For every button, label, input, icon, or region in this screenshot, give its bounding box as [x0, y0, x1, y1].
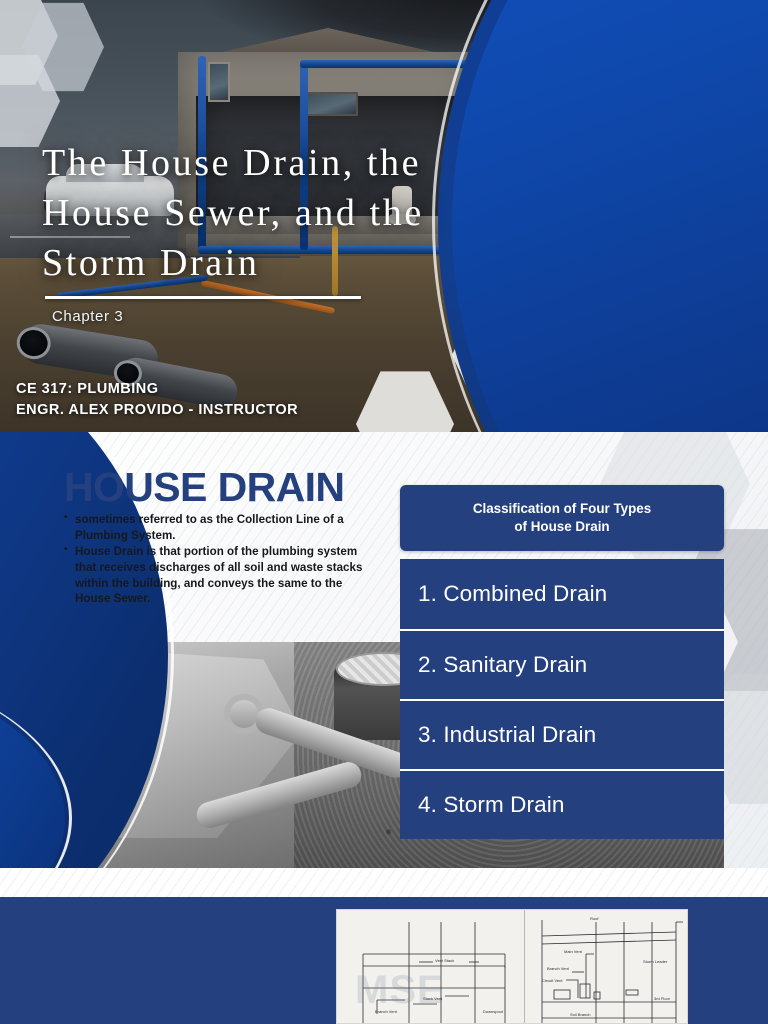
diagram-label-circuit-vent: Circuit Vent [542, 978, 562, 983]
list-item-combined-drain[interactable]: 1. Combined Drain [400, 559, 724, 629]
slide-plumbing-diagram: MSE Vent Stack Stack Vent Branch Vent Do… [0, 897, 768, 1024]
classification-header-line-2: of House Drain [514, 519, 609, 534]
diagram-right: Roof Main Vent Branch Vent Circuit Vent … [526, 910, 688, 1024]
slide-separator [0, 868, 768, 897]
diagram-label-soil-branch: Soil Branch [570, 1012, 590, 1017]
list-item-sanitary-drain[interactable]: 2. Sanitary Drain [400, 629, 724, 699]
page-title-line-1: The House Drain, the [42, 142, 421, 184]
diagram-label-branch-vent: Branch Vent [375, 1009, 397, 1014]
list-item: House Drain is that portion of the plumb… [64, 544, 364, 607]
diagram-label-stack-vent: Stack Vent [423, 996, 442, 1001]
diagram-left: MSE Vent Stack Stack Vent Branch Vent Do… [337, 910, 525, 1024]
course-label: CE 317: PLUMBING [16, 381, 159, 397]
classification-header: Classification of Four Types of House Dr… [400, 485, 724, 551]
page-title-line-3: Storm Drain [42, 242, 260, 284]
diagram-label-branch-vent: Branch Vent [547, 966, 569, 971]
list-item: sometimes referred to as the Collection … [64, 512, 364, 543]
diagram-label-downspout: Downspout [483, 1009, 503, 1014]
slide-deck-page: The House Drain, the House Sewer, and th… [0, 0, 768, 1024]
diagram-label-storm-leader: Storm Leader [643, 959, 667, 964]
diagram-watermark: MSE [355, 968, 445, 1013]
diagram-label-third-floor: 3rd Floor [654, 996, 670, 1001]
diagram-label-main-vent: Main Vent [564, 949, 582, 954]
title-divider [45, 296, 361, 299]
chapter-label: Chapter 3 [52, 308, 123, 325]
house-window-4 [300, 92, 358, 116]
plumbing-diagram-figure: MSE Vent Stack Stack Vent Branch Vent Do… [336, 909, 688, 1024]
classification-list: 1. Combined Drain 2. Sanitary Drain 3. I… [400, 559, 724, 839]
section-heading: HOUSE DRAIN [64, 464, 344, 511]
list-item-storm-drain[interactable]: 4. Storm Drain [400, 769, 724, 839]
house-window-1 [208, 62, 230, 102]
page-title-line-2: House Sewer, and the [42, 192, 424, 234]
bullet-list: sometimes referred to as the Collection … [64, 512, 364, 608]
diagram-label-roof: Roof [590, 916, 598, 921]
page-title: The House Drain, the House Sewer, and th… [42, 138, 562, 288]
list-item-industrial-drain[interactable]: 3. Industrial Drain [400, 699, 724, 769]
slide-title: The House Drain, the House Sewer, and th… [0, 0, 768, 432]
diagram-label-vent-stack: Vent Stack [435, 958, 454, 963]
classification-header-line-1: Classification of Four Types [473, 501, 651, 516]
instructor-label: ENGR. ALEX PROVIDO - INSTRUCTOR [16, 402, 298, 418]
